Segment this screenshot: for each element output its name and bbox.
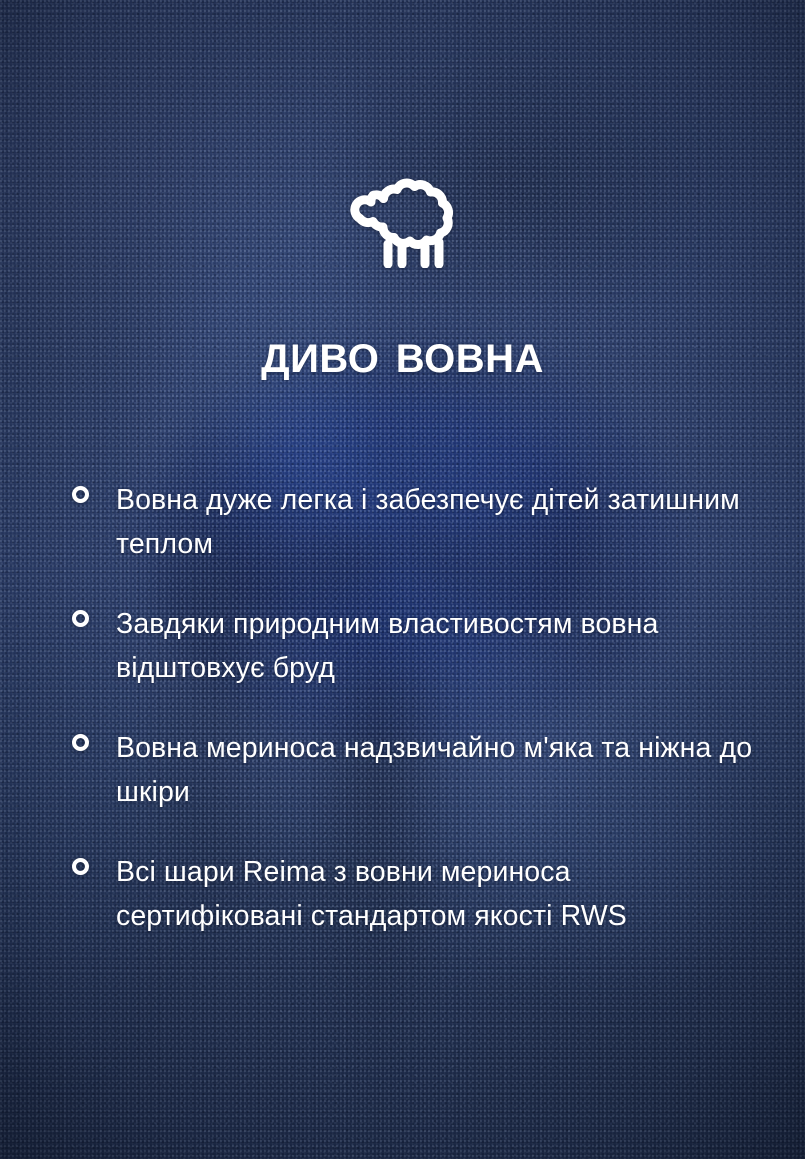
ring-bullet-icon — [72, 858, 89, 875]
benefit-list: Вовна дуже легка і забезпечує дітей зати… — [72, 478, 765, 938]
list-item: Вовна мериноса надзвичайно м'яка та ніжн… — [72, 726, 765, 814]
benefit-text: Всі шари Reima з вовни мериноса сертифік… — [116, 850, 765, 938]
benefit-text: Вовна дуже легка і забезпечує дітей зати… — [116, 478, 765, 566]
sheep-icon — [339, 172, 467, 268]
list-item: Завдяки природним властивостям вовна від… — [72, 602, 765, 690]
poster-content: Диво вовна Вовна дуже легка і забезпечує… — [0, 0, 805, 1159]
list-item: Вовна дуже легка і забезпечує дітей зати… — [72, 478, 765, 566]
benefit-text: Вовна мериноса надзвичайно м'яка та ніжн… — [116, 726, 765, 814]
list-item: Всі шари Reima з вовни мериноса сертифік… — [72, 850, 765, 938]
wool-feature-poster: Диво вовна Вовна дуже легка і забезпечує… — [0, 0, 805, 1159]
sheep-icon-container — [0, 172, 805, 268]
page-title: Диво вовна — [0, 325, 805, 382]
ring-bullet-icon — [72, 486, 89, 503]
ring-bullet-icon — [72, 610, 89, 627]
benefit-text: Завдяки природним властивостям вовна від… — [116, 602, 765, 690]
ring-bullet-icon — [72, 734, 89, 751]
